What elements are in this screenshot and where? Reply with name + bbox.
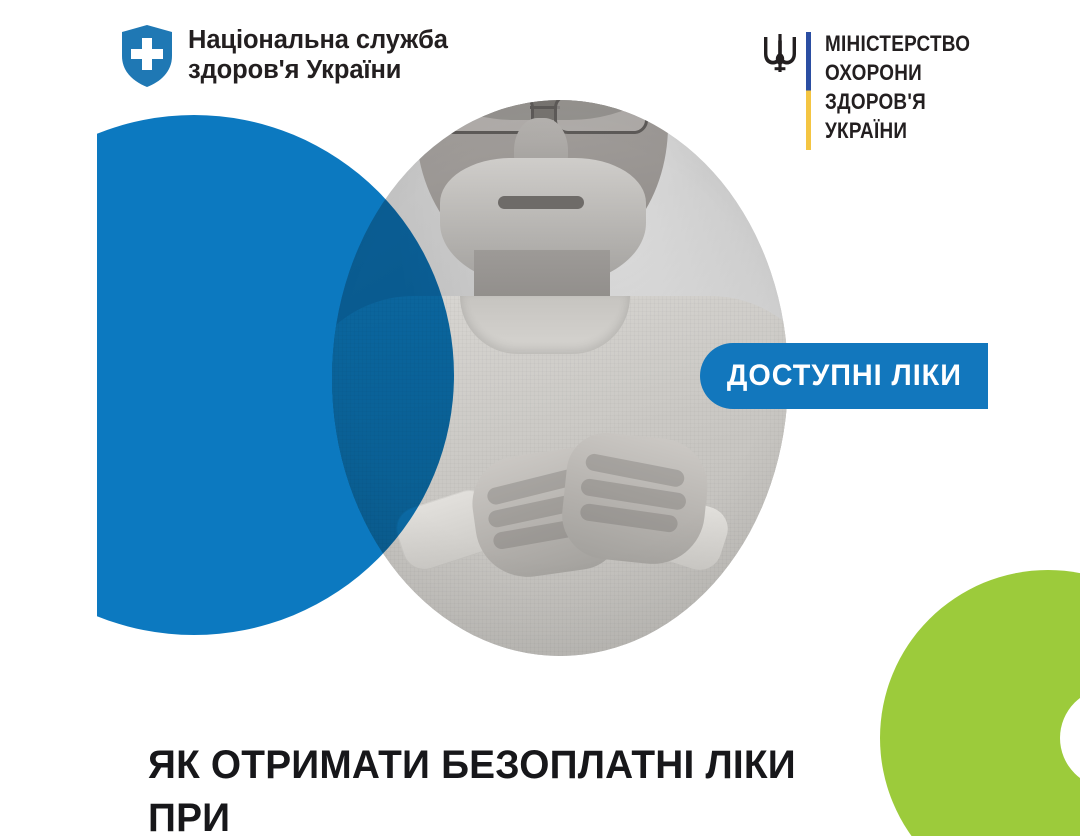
nhsu-name: Національна служба здоров'я України (188, 26, 448, 86)
shield-cross-icon (120, 24, 174, 88)
badge-label: ДОСТУПНІ ЛІКИ (727, 359, 962, 393)
poster-canvas: Національна служба здоров'я України МІНІ… (0, 0, 1080, 836)
moz-name-line-1: МІНІСТЕРСТВО (825, 31, 970, 57)
nhsu-logo: Національна служба здоров'я України (120, 24, 448, 88)
blue-circle-shape (97, 115, 454, 635)
available-medicines-badge[interactable]: ДОСТУПНІ ЛІКИ (700, 343, 988, 409)
ukraine-trident-icon (760, 31, 800, 75)
green-ring-outer (880, 570, 1080, 836)
page-title-line-1: ЯК ОТРИМАТИ БЕЗОПЛАТНІ ЛІКИ ПРИ (148, 739, 885, 836)
page-title: ЯК ОТРИМАТИ БЕЗОПЛАТНІ ЛІКИ ПРИ СЕРЦЕВО-… (148, 686, 908, 836)
moz-name-line-2: ОХОРОНИ (825, 60, 970, 86)
